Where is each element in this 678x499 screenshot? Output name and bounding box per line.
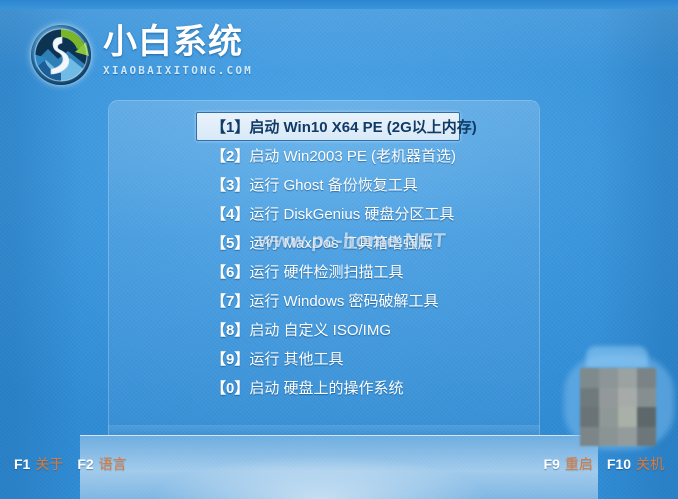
header-banner: 小白系统 XIAOBAIXITONG.COM bbox=[0, 0, 678, 104]
menu-item-7[interactable]: 【7】运行 Windows 密码破解工具 bbox=[196, 286, 486, 315]
menu-item-label: 运行 DiskGenius 硬盘分区工具 bbox=[249, 206, 454, 223]
mosaic-pixel bbox=[637, 427, 656, 447]
boot-menu-list[interactable]: 【1】启动 Win10 X64 PE (2G以上内存)【2】启动 Win2003… bbox=[196, 112, 486, 402]
footer-hotkeys-right[interactable]: F9重启F10关机 bbox=[544, 455, 664, 473]
mosaic-pixel bbox=[580, 388, 599, 408]
menu-item-key: 【7】 bbox=[211, 293, 249, 310]
mosaic-pixel bbox=[580, 407, 599, 427]
menu-item-key: 【4】 bbox=[211, 206, 249, 223]
mosaic-pixel bbox=[618, 427, 637, 447]
menu-item-label: 启动 自定义 ISO/IMG bbox=[249, 322, 391, 339]
menu-item-key: 【9】 bbox=[211, 351, 249, 368]
hotkey-f9[interactable]: F9 bbox=[544, 456, 560, 472]
mosaic-pixel bbox=[618, 368, 637, 388]
mosaic-pixel bbox=[599, 407, 618, 427]
hotkey-label-f1[interactable]: 关于 bbox=[35, 456, 63, 472]
menu-item-key: 【2】 bbox=[211, 148, 249, 165]
menu-item-key: 【6】 bbox=[211, 264, 249, 281]
brand-title: 小白系统 bbox=[103, 22, 253, 62]
hotkey-f1[interactable]: F1 bbox=[14, 456, 30, 472]
brand-text-block: 小白系统 XIAOBAIXITONG.COM bbox=[103, 22, 253, 77]
menu-item-8[interactable]: 【8】启动 自定义 ISO/IMG bbox=[196, 315, 486, 344]
menu-item-label: 运行 MaxDos 工具箱增强版 bbox=[249, 235, 432, 252]
menu-item-label: 运行 Ghost 备份恢复工具 bbox=[249, 177, 417, 194]
hotkey-f10[interactable]: F10 bbox=[607, 456, 631, 472]
footer-hotkeys-left[interactable]: F1关于F2语言 bbox=[14, 455, 127, 473]
mosaic-pixel bbox=[599, 368, 618, 388]
brand-subtitle: XIAOBAIXITONG.COM bbox=[103, 64, 253, 77]
recycle-arrows-globe-icon bbox=[28, 22, 94, 88]
menu-item-9[interactable]: 【9】运行 其他工具 bbox=[196, 344, 486, 373]
menu-item-label: 运行 硬件检测扫描工具 bbox=[249, 264, 403, 281]
menu-item-label: 运行 其他工具 bbox=[249, 351, 343, 368]
mosaic-pixel bbox=[637, 388, 656, 408]
menu-item-4[interactable]: 【4】运行 DiskGenius 硬盘分区工具 bbox=[196, 199, 486, 228]
menu-item-key: 【5】 bbox=[211, 235, 249, 252]
menu-item-10[interactable]: 【0】启动 硬盘上的操作系统 bbox=[196, 373, 486, 402]
menu-item-6[interactable]: 【6】运行 硬件检测扫描工具 bbox=[196, 257, 486, 286]
mosaic-pixel bbox=[580, 368, 599, 388]
hotkey-label-f10[interactable]: 关机 bbox=[636, 456, 664, 472]
menu-item-label: 启动 硬盘上的操作系统 bbox=[249, 380, 403, 397]
mosaic-pixel bbox=[599, 388, 618, 408]
menu-item-2[interactable]: 【2】启动 Win2003 PE (老机器首选) bbox=[196, 141, 486, 170]
menu-item-1[interactable]: 【1】启动 Win10 X64 PE (2G以上内存) bbox=[196, 112, 460, 141]
mosaic-pixel bbox=[580, 427, 599, 447]
pedestal-platform bbox=[80, 435, 598, 499]
menu-item-key: 【3】 bbox=[211, 177, 249, 194]
hotkey-label-f9[interactable]: 重启 bbox=[565, 456, 593, 472]
menu-item-5[interactable]: 【5】运行 MaxDos 工具箱增强版 bbox=[196, 228, 486, 257]
mosaic-pixel bbox=[618, 407, 637, 427]
menu-item-key: 【8】 bbox=[211, 322, 249, 339]
header-top-strip bbox=[0, 0, 678, 9]
menu-item-label: 运行 Windows 密码破解工具 bbox=[249, 293, 438, 310]
brand-logo bbox=[22, 16, 100, 94]
menu-item-key: 【1】 bbox=[211, 119, 249, 136]
mosaic-pixel bbox=[618, 388, 637, 408]
menu-item-key: 【0】 bbox=[211, 380, 249, 397]
mosaic-pixel bbox=[637, 368, 656, 388]
menu-item-label: 启动 Win10 X64 PE (2G以上内存) bbox=[249, 119, 476, 136]
mosaic-pixel bbox=[599, 427, 618, 447]
hotkey-f2[interactable]: F2 bbox=[77, 456, 93, 472]
mosaic-pixel-grid bbox=[580, 368, 656, 446]
menu-item-3[interactable]: 【3】运行 Ghost 备份恢复工具 bbox=[196, 170, 486, 199]
censored-mosaic-block bbox=[564, 342, 674, 460]
mosaic-pixel bbox=[637, 407, 656, 427]
menu-item-label: 启动 Win2003 PE (老机器首选) bbox=[249, 148, 456, 165]
hotkey-label-f2[interactable]: 语言 bbox=[99, 456, 127, 472]
mosaic-cap bbox=[586, 346, 648, 368]
